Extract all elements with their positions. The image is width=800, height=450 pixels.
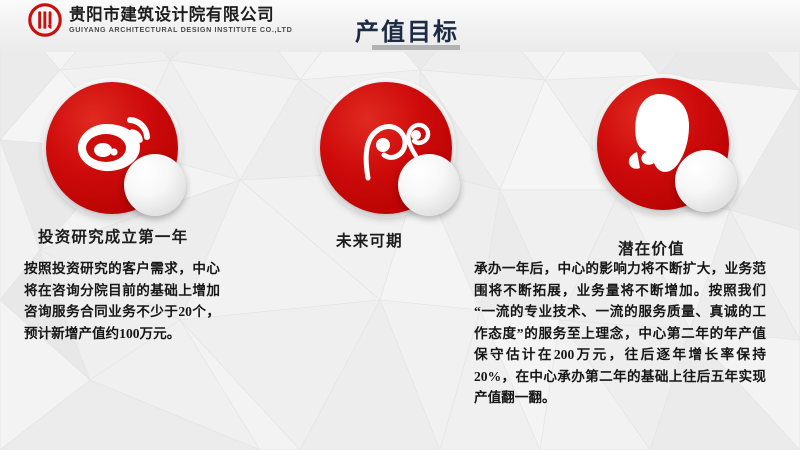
company-name-cn: 贵阳市建筑设计院有限公司 bbox=[69, 7, 292, 24]
column-1-body: 按照投资研究的客户需求，中心将在咨询分院目前的基础上增加咨询服务合同业务不少于2… bbox=[24, 258, 220, 344]
badge-bead-1 bbox=[124, 154, 186, 216]
page-title: 产值目标 bbox=[355, 12, 459, 47]
content-columns: 投资研究成立第一年 按照投资研究的客户需求，中心将在咨询分院目前的基础上增加咨询… bbox=[0, 0, 800, 450]
column-2-body: 承办一年后，中心的影响力将不断扩大，业务范围将不断拓展，业务量将不断增加。按照我… bbox=[474, 258, 766, 409]
company-logo: 贵阳市建筑设计院有限公司 GUIYANG ARCHITECTURAL DESIG… bbox=[28, 3, 292, 37]
column-3-heading: 潜在价值 bbox=[618, 237, 685, 259]
badge-1 bbox=[46, 82, 196, 232]
column-1-heading: 投资研究成立第一年 bbox=[38, 225, 188, 247]
column-2-heading: 未来可期 bbox=[336, 229, 403, 251]
badge-3 bbox=[597, 78, 747, 228]
company-seal-icon bbox=[28, 3, 62, 37]
badge-bead-2 bbox=[398, 154, 460, 216]
slide-canvas: 贵阳市建筑设计院有限公司 GUIYANG ARCHITECTURAL DESIG… bbox=[0, 0, 800, 450]
badge-2 bbox=[320, 82, 470, 232]
badge-bead-3 bbox=[675, 150, 737, 212]
title-underline bbox=[372, 45, 460, 50]
company-name-en: GUIYANG ARCHITECTURAL DESIGN INSTITUTE C… bbox=[69, 26, 292, 33]
